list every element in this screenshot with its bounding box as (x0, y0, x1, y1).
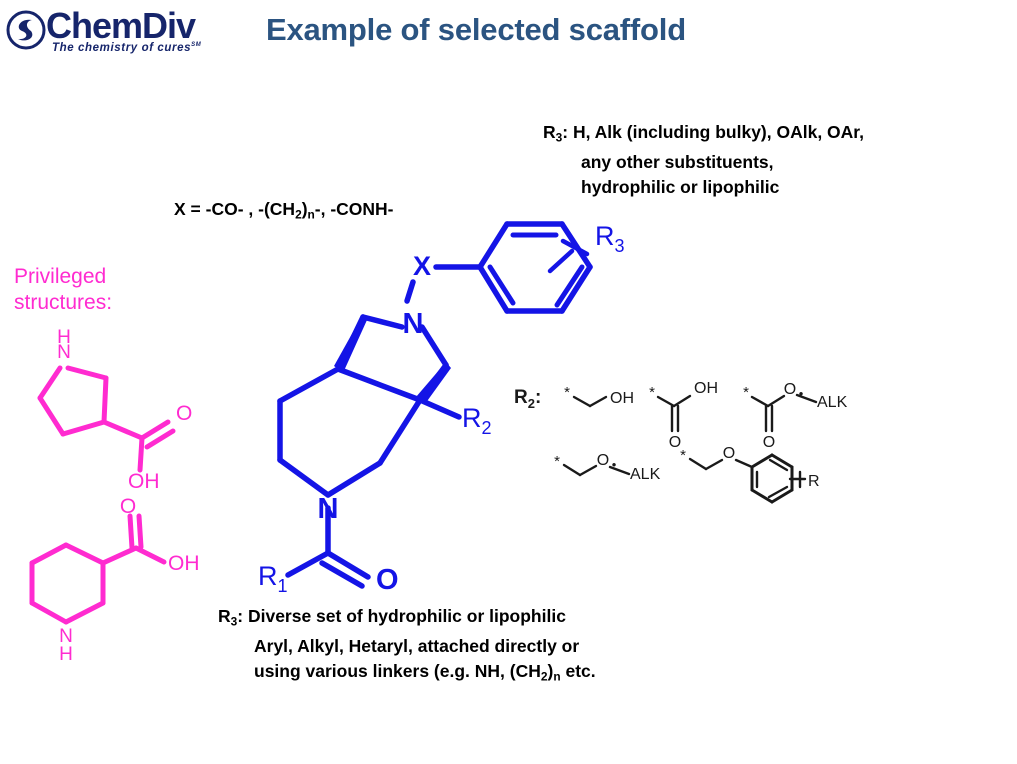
pyrrolidine-carbonyl-o-label: O (176, 402, 192, 425)
r3-top-line3: hydrophilic or lipophilic (543, 175, 864, 200)
r2-item-5-o: O (723, 445, 735, 462)
piperidine-hydroxyl-label: OH (168, 552, 200, 575)
chemdiv-swirl-logo (6, 10, 46, 50)
x-definition-prefix: X = (174, 199, 206, 219)
privileged-structures-label: Privileged structures: (14, 264, 112, 316)
r2-item-5-terminal: R (808, 473, 820, 490)
piperidine-ring-n-label: N (318, 493, 339, 525)
r2-item-4-o: O (597, 452, 609, 469)
r2-item-4-terminal: ALK (630, 466, 661, 483)
r2-item-1-terminal: OH (610, 390, 634, 407)
r3-top-line1: R3: H, Alk (including bulky), OAlk, OAr, (543, 120, 864, 150)
chemdiv-logo: ChemDiv The chemistry of curesSM (6, 6, 221, 58)
piperidine-carbonyl-o-label: O (120, 495, 136, 518)
r2-substituent-group: R2: (512, 375, 882, 505)
r1-label: R1 (258, 561, 288, 596)
page-title: Example of selected scaffold (266, 12, 686, 48)
logo-tagline: The chemistry of curesSM (52, 42, 201, 54)
r2-item-3-double-o: O (763, 434, 775, 451)
carbonyl-o-label: O (376, 564, 399, 596)
attachment-dot-icon: • (612, 457, 617, 472)
pyrrolidine-hydroxyl-label: OH (128, 470, 160, 493)
r2-item-2-terminal: OH (694, 380, 718, 397)
r3-scaffold-label: R3 (595, 221, 625, 256)
pyrrolidine-ring-n-label: N (403, 308, 424, 340)
piperidine-h-label: H (59, 644, 73, 665)
r3-bottom-line3: using various linkers (e.g. NH, (CH2)n e… (218, 659, 596, 689)
privileged-label-line2: structures: (14, 290, 112, 316)
attachment-dot-icon: • (799, 386, 804, 401)
logo-trademark: SM (191, 42, 201, 48)
logo-wordmark: ChemDiv (46, 6, 195, 46)
r3-top-line2: any other substituents, (543, 150, 864, 175)
r2-scaffold-label: R2 (462, 403, 492, 438)
pyrrolidine-h-label: H (57, 327, 71, 348)
attachment-star-icon: * (743, 384, 749, 401)
r2-group-label: R2: (514, 387, 541, 411)
privileged-label-line1: Privileged (14, 264, 112, 290)
piperidine-carboxylic-acid-structure: N H O OH (18, 500, 208, 665)
pyrrolidine-carboxylic-acid-structure: N H O OH (18, 330, 208, 495)
r2-item-2-double-o: O (669, 434, 681, 451)
attachment-star-icon: * (554, 453, 560, 470)
r3-bottom-line2: Aryl, Alkyl, Hetaryl, attached directly … (218, 634, 596, 659)
r2-item-3-o: O (784, 381, 796, 398)
r3-bottom-description: R3: Diverse set of hydrophilic or lipoph… (218, 604, 596, 690)
r3-bottom-line1: R3: Diverse set of hydrophilic or lipoph… (218, 604, 596, 634)
linker-x-label: X (413, 251, 431, 281)
attachment-star-icon: * (649, 384, 655, 401)
attachment-star-icon: * (564, 384, 570, 401)
r2-item-3-terminal: ALK (817, 394, 848, 411)
r3-top-description: R3: H, Alk (including bulky), OAlk, OAr,… (543, 120, 864, 200)
